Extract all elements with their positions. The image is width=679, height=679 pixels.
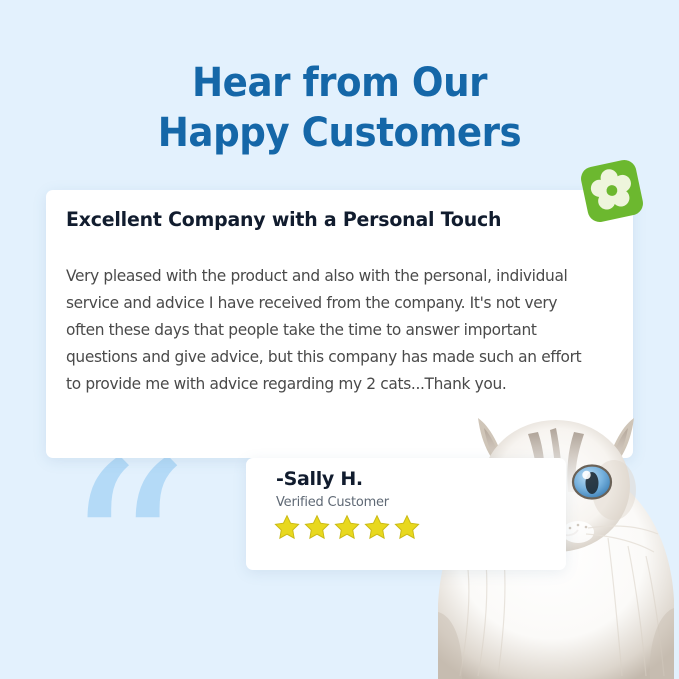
quote-mark-icon: “ bbox=[62, 430, 190, 679]
star-icon bbox=[304, 514, 330, 540]
testimonial-canvas: Hear from Our Happy Customers “ Excellen… bbox=[0, 0, 679, 679]
attribution-card: -Sally H. Verified Customer bbox=[246, 458, 566, 570]
page-title-line-1: Hear from Our bbox=[24, 58, 655, 108]
star-icon bbox=[334, 514, 360, 540]
star-rating bbox=[274, 514, 420, 540]
flower-badge bbox=[576, 155, 648, 227]
flower-icon bbox=[576, 155, 648, 227]
cat-eye-right bbox=[573, 466, 611, 499]
star-icon bbox=[364, 514, 390, 540]
star-icon bbox=[274, 514, 300, 540]
page-title: Hear from Our Happy Customers bbox=[24, 58, 655, 158]
review-body-text: Very pleased with the product and also w… bbox=[66, 262, 590, 397]
reviewer-name: -Sally H. bbox=[276, 468, 363, 490]
star-icon bbox=[394, 514, 420, 540]
review-title: Excellent Company with a Personal Touch bbox=[66, 208, 501, 231]
page-title-line-2: Happy Customers bbox=[24, 108, 655, 158]
verified-customer-label: Verified Customer bbox=[276, 494, 389, 510]
